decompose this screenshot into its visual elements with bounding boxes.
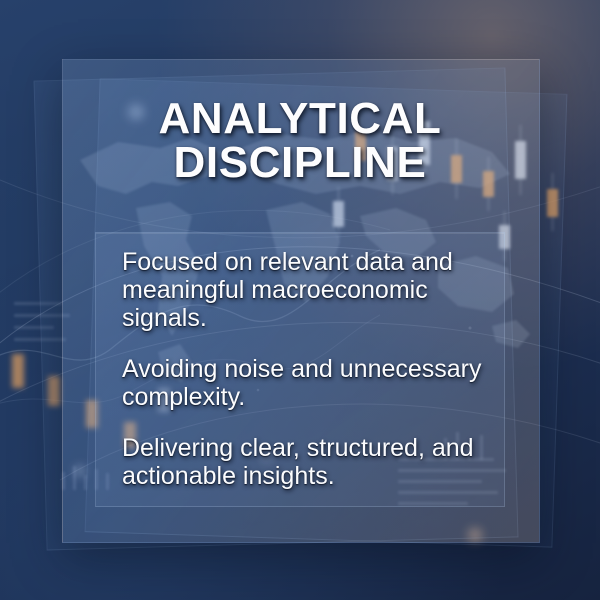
page-title: ANALYTICAL DISCIPLINE (62, 97, 538, 185)
body-copy: Focused on relevant data and meaningful … (122, 248, 482, 490)
title-line-2: DISCIPLINE (62, 141, 538, 185)
paragraph-1: Focused on relevant data and meaningful … (122, 248, 482, 332)
paragraph-3: Delivering clear, structured, and action… (122, 434, 482, 490)
title-line-1: ANALYTICAL (62, 97, 538, 141)
paragraph-2: Avoiding noise and unnecessary complexit… (122, 355, 482, 411)
slide-canvas: ANALYTICAL DISCIPLINE Focused on relevan… (0, 0, 600, 600)
